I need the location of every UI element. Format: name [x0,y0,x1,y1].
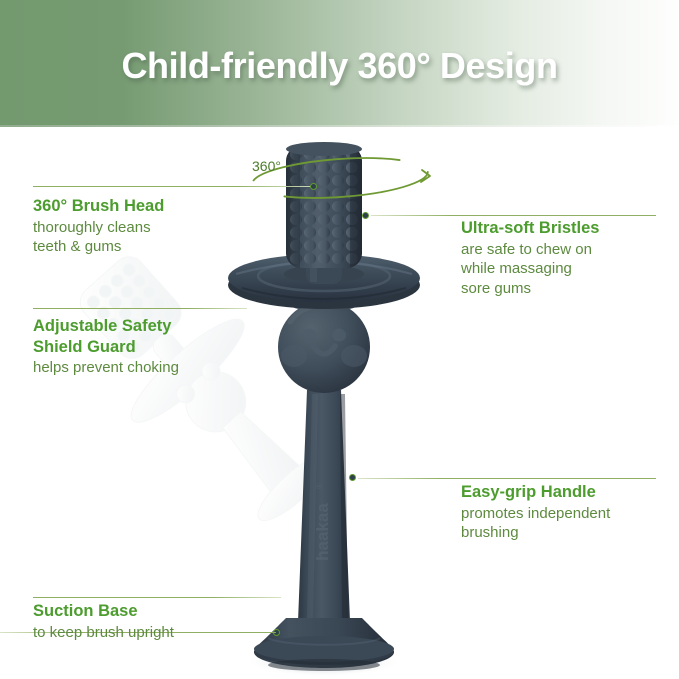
callout-handle: Easy-grip Handle promotes independent br… [461,482,610,543]
page-title: Child-friendly 360° Design [0,45,679,87]
callout-handle-desc-2: brushing [461,523,610,543]
callout-dot-brush-head [310,183,317,190]
callout-bristles-desc-2: while massaging [461,259,599,279]
degree-badge-label: 360° [252,158,281,174]
callout-suction-base-title: Suction Base [33,601,174,622]
callout-dot-handle [349,474,356,481]
callout-bristles-desc-3: sore gums [461,279,599,299]
svg-text:®: ® [315,483,324,489]
header-divider [0,125,679,127]
brand-emboss-text: haakaa [313,503,332,561]
leader-line-handle [358,478,656,479]
callout-shield-guard-desc-1: helps prevent choking [33,358,179,378]
callout-bristles: Ultra-soft Bristles are safe to chew on … [461,218,599,298]
leader-line-suction-base [33,597,281,598]
callout-suction-base: Suction Base to keep brush upright [33,601,174,642]
callout-handle-title: Easy-grip Handle [461,482,610,503]
callout-brush-head-title: 360° Brush Head [33,196,164,217]
callout-bristles-title: Ultra-soft Bristles [461,218,599,239]
leader-line-bristles [371,215,656,216]
leader-line-shield-guard [33,308,247,309]
callout-shield-guard-title-1: Adjustable Safety [33,316,179,337]
callout-brush-head-desc-1: thoroughly cleans [33,218,164,238]
360-orbit-annotation [240,140,440,230]
callout-shield-guard: Adjustable Safety Shield Guard helps pre… [33,316,179,378]
callout-handle-desc-1: promotes independent [461,504,610,524]
infographic-canvas: Child-friendly 360° Design [0,0,679,679]
callout-dot-bristles [362,212,369,219]
callout-brush-head-desc-2: teeth & gums [33,237,164,257]
leader-line-brush-head [33,186,316,187]
callout-brush-head: 360° Brush Head thoroughly cleans teeth … [33,196,164,257]
callout-suction-base-desc-1: to keep brush upright [33,623,174,643]
callout-bristles-desc-1: are safe to chew on [461,240,599,260]
callout-shield-guard-title-2: Shield Guard [33,337,179,358]
